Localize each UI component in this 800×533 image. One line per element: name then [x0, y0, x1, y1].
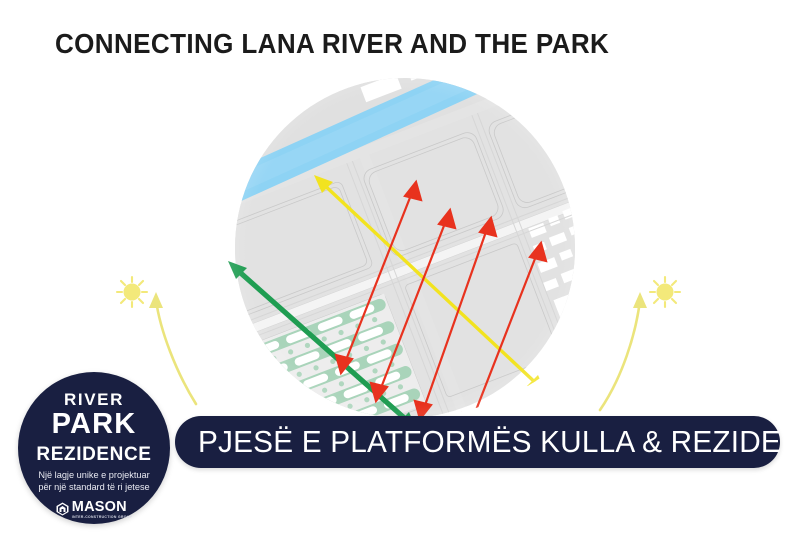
site-map	[195, 78, 615, 418]
sun-icon-left	[117, 277, 147, 307]
badge-tagline: Një lagje unike e projektuar për një sta…	[24, 469, 164, 494]
sun-icon-right	[650, 277, 680, 307]
presentation-slide: CONNECTING LANA RIVER AND THE PARK	[0, 0, 800, 533]
mason-shield-icon	[56, 502, 69, 516]
badge-line-park: PARK	[18, 408, 170, 441]
bottom-banner: PJESË E PLATFORMËS KULLA & REZIDENCA	[175, 416, 780, 468]
page-title: CONNECTING LANA RIVER AND THE PARK	[55, 28, 609, 60]
badge-line-rezidence: REZIDENCE	[18, 444, 170, 466]
mason-name: MASON	[72, 500, 127, 515]
mason-wordmark: MASON INTER-CONSTRUCTION GROUP	[72, 500, 132, 519]
mason-logo: MASON INTER-CONSTRUCTION GROUP	[18, 500, 170, 519]
badge-line-river: RIVER	[18, 390, 170, 410]
banner-label: PJESË E PLATFORMËS KULLA & REZIDENCA	[198, 424, 800, 460]
mason-subtitle: INTER-CONSTRUCTION GROUP	[72, 516, 132, 519]
badge-tagline-line1: Një lagje unike e projektuar	[24, 469, 164, 481]
badge-tagline-line2: për një standard të ri jetese	[24, 481, 164, 493]
site-map-drawing	[195, 78, 615, 418]
site-map-circle	[195, 78, 615, 418]
brand-badge: RIVER PARK REZIDENCE Një lagje unike e p…	[18, 372, 170, 524]
yellow-curved-arrow-left	[149, 292, 196, 404]
